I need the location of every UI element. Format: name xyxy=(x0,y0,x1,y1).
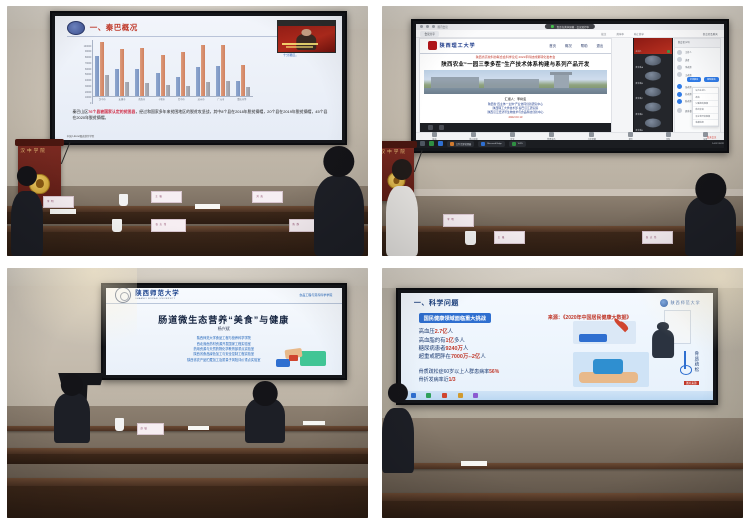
nameplate: 王 强 xyxy=(151,191,182,203)
stop-share-button[interactable]: 停止共享 xyxy=(634,32,644,36)
department-label: 食品工程与营养科学学院 xyxy=(299,293,332,297)
nameplate-text: 王 强 xyxy=(155,194,162,198)
screen-surface: 一、秦巴概况 010000200003000040000500006000070… xyxy=(55,16,341,140)
avatar xyxy=(677,108,682,113)
video-tile[interactable]: 参会者E xyxy=(634,116,672,132)
document-icon xyxy=(512,142,516,146)
affiliation-3: 陕西汉江经济带生物技术与食品科技创新中心 xyxy=(420,110,611,114)
chart-y-tick: 60000 xyxy=(85,69,91,71)
video-tile[interactable]: 参会者D xyxy=(634,101,672,118)
video-tile[interactable]: 参会者B xyxy=(634,70,672,87)
decoration-shape-green xyxy=(300,351,326,366)
paper-cup xyxy=(115,418,124,431)
slide-control-icon[interactable] xyxy=(439,125,444,130)
slide-subtitle: 陕西省高校科协联合会科学论坛 2021年科技成果转化发布会 xyxy=(420,55,611,59)
avatar xyxy=(677,92,682,97)
university-seal-icon xyxy=(115,288,131,303)
chart-bar-group xyxy=(196,40,210,96)
slide-campus-photo xyxy=(424,70,607,94)
nav-help[interactable]: 帮助 xyxy=(581,43,588,48)
slide-org-name: 陕西师范大学 xyxy=(671,300,701,306)
avatar xyxy=(645,119,661,128)
chart-bar xyxy=(186,86,190,96)
stat-value: 56% xyxy=(489,369,499,375)
video-tile[interactable]: 主讲人 xyxy=(634,38,672,55)
chat-icon xyxy=(628,132,633,137)
projection-screen: 腾讯会议 您正在共享屏幕 · 会议进行中 会议共享 批注 共享中 xyxy=(411,19,729,153)
avatar xyxy=(645,72,661,81)
roster-header: 参会者 (24) xyxy=(675,39,720,48)
chart-bar xyxy=(236,81,240,96)
chart-bar xyxy=(226,81,230,96)
chart-bar xyxy=(246,87,250,95)
chart-x-tick: 巴中市 xyxy=(178,97,185,101)
avatar xyxy=(677,84,682,89)
system-clock[interactable]: 14:32 2022/3/13 xyxy=(712,143,724,146)
stat-item: 超重或肥胖在7000万--2亿人 xyxy=(419,353,569,361)
nameplate: 张 志 伟 xyxy=(151,219,185,232)
chart-bar-group xyxy=(236,40,250,96)
nav-exit[interactable]: 退出 xyxy=(597,43,604,48)
nameplate-text: 陈 静 xyxy=(292,222,299,226)
photo-top-left: 一、秦巴概况 010000200003000040000500006000070… xyxy=(7,6,368,256)
chart-bar xyxy=(100,42,104,96)
end-meeting-button[interactable]: 结束会议 xyxy=(707,135,716,139)
chart-bar xyxy=(221,45,225,96)
participant-context-menu[interactable]: 设为主持人 改名 只看他的视频 移出会议 禁止他开启视频 私聊消息 xyxy=(692,87,719,127)
panel-bottom-right: 一、科学问题 陕西师范大学 国民健康领域面临重大挑战 来源：《2020年中国居民… xyxy=(375,262,750,524)
handout xyxy=(461,461,486,466)
attendee-head xyxy=(253,381,278,406)
org-name-cn: 陕西师范大学 xyxy=(135,291,179,298)
chart-bar xyxy=(176,77,180,96)
paper-cup xyxy=(112,219,122,233)
chart-x-tick: 重庆市等 xyxy=(237,97,246,101)
stat-prefix: 超重或肥胖在 xyxy=(419,354,451,360)
roster-title: 参会者及聊天 xyxy=(703,32,718,36)
stat-suffix: 人 xyxy=(480,354,485,360)
screen-surface: 一、科学问题 陕西师范大学 国民健康领域面临重大挑战 来源：《2020年中国居民… xyxy=(401,293,713,400)
roster-row[interactable]: 李老师 xyxy=(677,64,718,71)
nameplate-text: 张 志 伟 xyxy=(156,222,167,226)
sharing-status-text: 您正在共享屏幕 · 会议进行中 xyxy=(557,25,589,29)
chart-bar xyxy=(125,82,129,96)
tower-shape xyxy=(554,74,569,89)
chart-bar xyxy=(181,52,185,96)
building-shape xyxy=(484,79,539,88)
nameplate: 刘 海 xyxy=(252,191,283,203)
stat-value: 1亿 xyxy=(446,338,454,344)
device-shape xyxy=(593,359,623,374)
stat-value: 7000万--2亿 xyxy=(451,354,480,360)
video-tile-name: 主讲人 xyxy=(635,50,641,53)
chart-x-tick: 商洛市 xyxy=(138,97,145,101)
participant-roster[interactable]: 参会者 (24) 主持人 讲者 李老师 xyxy=(674,38,721,133)
chart-bar xyxy=(120,49,124,96)
window-controls-icon[interactable] xyxy=(420,25,435,28)
paper-cup xyxy=(119,194,128,207)
people-icon xyxy=(549,132,554,137)
chart-y-tick: 100000 xyxy=(84,46,92,48)
slide-poverty-overview: 一、秦巴概况 010000200003000040000500006000070… xyxy=(55,16,341,140)
avatar xyxy=(677,72,682,77)
nameplate-text: 李 明 xyxy=(47,199,54,203)
ribbon-icon xyxy=(458,393,463,398)
stethoscope-bell xyxy=(680,365,692,375)
chart-x-labels: 汉中市安康市商洛市十堰市巴中市达州市广元市重庆市等 xyxy=(92,97,253,104)
chart-bar xyxy=(201,45,205,96)
handout xyxy=(188,426,210,430)
taskbar-app-wps[interactable]: WPS xyxy=(509,141,526,147)
water-shape xyxy=(424,88,607,94)
chart-y-tick: 90000 xyxy=(85,51,91,53)
panel-top-left: 一、秦巴概况 010000200003000040000500006000070… xyxy=(0,0,375,262)
participant-name: 李老师 xyxy=(685,65,692,69)
projection-screen: 一、科学问题 陕西师范大学 国民健康领域面临重大挑战 来源：《2020年中国居民… xyxy=(396,288,718,405)
shared-slide: 陕西理工大学 首页 概况 帮助 退出 陕西省高校科协联合会科 xyxy=(420,39,611,132)
desk-face-2 xyxy=(382,501,743,519)
chart-plot-area xyxy=(92,40,253,97)
nameplate-text: 刘 海 xyxy=(256,194,263,198)
slide-meta: 汇报人：李树玺 陕西省“四主体一主体”产业协同创新研究中心 陕西理工大学技术部 … xyxy=(420,96,611,119)
stat-value: 2.7亿 xyxy=(435,329,448,335)
reporter-label: 汇报人： xyxy=(505,97,517,101)
attendee xyxy=(54,393,90,443)
desk-row-2 xyxy=(382,493,743,501)
chart-y-tick: 20000 xyxy=(85,92,91,94)
annotate-button[interactable]: 批注 xyxy=(601,32,606,36)
video-caption-1 xyxy=(282,43,318,45)
vertical-note: 骨质疏松 xyxy=(694,351,700,373)
attendee xyxy=(245,398,285,443)
share-screen-icon xyxy=(589,132,594,137)
taskbar-app-label: WPS xyxy=(518,143,523,145)
video-tile-name: 参会者B xyxy=(635,82,643,85)
university-seal-icon xyxy=(660,299,668,307)
stat-suffix: 多人 xyxy=(454,338,465,344)
podium-top xyxy=(15,139,64,146)
ribbon-icon xyxy=(442,393,447,398)
nav-home[interactable]: 首页 xyxy=(549,43,556,48)
photo-bottom-left: 陕西师范大学 SHAANXI NORMAL UNIVERSITY 食品工程与营养… xyxy=(7,268,368,518)
slide-nav: 首页 概况 帮助 退出 xyxy=(549,43,603,48)
chart-bar xyxy=(156,73,160,96)
stat-value: 9240万 xyxy=(446,346,463,352)
slide-org-name: 陕西理工大学 xyxy=(440,42,476,49)
blood-pressure-cuff-icon xyxy=(579,334,607,342)
stat-prefix: 高血脂的有 xyxy=(419,338,446,344)
screen-surface: 陕西师范大学 SHAANXI NORMAL UNIVERSITY 食品工程与营养… xyxy=(106,288,342,375)
slide-logo: 陕西理工大学 xyxy=(428,41,476,50)
video-tile[interactable]: 参会者C xyxy=(634,85,672,102)
avatar xyxy=(645,56,661,65)
sharing-dot-icon xyxy=(551,25,554,28)
university-mark-icon xyxy=(428,41,437,50)
slide-title: 肠道微生态营养“美食”与健康 xyxy=(106,313,342,326)
slide-bottom-bar xyxy=(420,123,611,131)
slide-logo: 陕西师范大学 xyxy=(660,299,701,307)
stat-prefix: 骨折发病率近 xyxy=(419,377,449,383)
chart-x-tick: 汉中市 xyxy=(99,97,106,101)
nameplate-text: 张 志 伟 xyxy=(646,235,657,239)
slide-logo: 陕西师范大学 SHAANXI NORMAL UNIVERSITY xyxy=(115,288,179,303)
slide-heading: 一、科学问题 xyxy=(414,298,459,308)
screen-surface: 腾讯会议 您正在共享屏幕 · 会议进行中 会议共享 批注 共享中 xyxy=(416,24,724,148)
menu-item-private-chat[interactable]: 私聊消息 xyxy=(693,120,718,126)
projection-screen: 陕西师范大学 SHAANXI NORMAL UNIVERSITY 食品工程与营养… xyxy=(101,283,347,380)
reporter-line: 汇报人：李树玺 xyxy=(420,96,611,101)
chart-bar xyxy=(166,85,170,96)
video-tile-name: 参会者A xyxy=(635,66,643,69)
video-titlebar xyxy=(278,21,335,26)
attendee xyxy=(386,186,418,256)
roster-row[interactable]: 讲者 xyxy=(677,56,718,63)
nameplate: 李 明 xyxy=(443,214,474,227)
stat-prefix: 糖尿病患者 xyxy=(419,346,446,352)
slide-footer-text: 秦巴山区76个县被国家认定的贫困县，经过和国家多年来贫困地区的脱贫攻坚战，其中8… xyxy=(72,109,327,121)
decoration-shape-blue xyxy=(276,359,290,367)
stat-item: 糖尿病患者9240万人 xyxy=(419,345,569,353)
unmute-all-button[interactable]: 解除静音 xyxy=(704,77,718,82)
podium-text: 汉中学院 xyxy=(382,149,412,155)
chart-y-tick: 70000 xyxy=(85,63,91,65)
slide-badge: 国民健康领域面临重大挑战 xyxy=(419,313,491,323)
handout xyxy=(303,421,325,425)
nameplate-text: 赵 敏 xyxy=(140,426,147,430)
nameplate-text: 王 强 xyxy=(498,235,505,239)
video-tile-name: 参会者C xyxy=(635,97,643,100)
slide-illustrations: 骨质疏松 图片来源 xyxy=(573,321,704,387)
attendee xyxy=(314,176,365,256)
chart-bar-group xyxy=(135,40,149,96)
participant-video-strip[interactable]: 主讲人 参会者A 参会者B xyxy=(633,38,673,133)
ribbon-icon xyxy=(473,393,478,398)
source-label: 来源： xyxy=(548,315,563,321)
chart-bar xyxy=(145,83,149,96)
attendee xyxy=(382,408,414,473)
chart-bar-group xyxy=(115,40,129,96)
avatar xyxy=(645,103,661,112)
stat-list-primary: 高血压2.7亿人 高血脂的有1亿多人 糖尿病患者9240万人 超重或肥胖在700… xyxy=(419,328,569,362)
avatar xyxy=(645,87,661,96)
search-icon[interactable] xyxy=(429,141,434,146)
browser-icon xyxy=(481,142,485,146)
illustration-person-silhouette xyxy=(649,322,678,358)
handout xyxy=(195,204,220,209)
slide-credit: 中国人Excel图表制作学院 xyxy=(67,134,94,138)
chart-bar-group xyxy=(176,40,190,96)
desk-face-2 xyxy=(7,454,368,464)
photo-top-right: 腾讯会议 您正在共享屏幕 · 会议进行中 会议共享 批注 共享中 xyxy=(382,6,743,256)
podium-text: 汉中学院 xyxy=(20,148,58,154)
os-taskbar: 文件资源管理器 Microsoft Edge WPS 14:32 2022/3/… xyxy=(416,140,724,147)
stat-item: 高血压2.7亿人 xyxy=(419,328,569,336)
chart-y-tick: 30000 xyxy=(85,86,91,88)
slide-control-icon[interactable] xyxy=(428,125,433,130)
desk-row-3 xyxy=(7,478,368,486)
slide-title-nutrition: 陕西师范大学 SHAANXI NORMAL UNIVERSITY 食品工程与营养… xyxy=(106,288,342,375)
chart-bar xyxy=(135,69,139,96)
folder-icon xyxy=(450,142,454,146)
nav-overview[interactable]: 概况 xyxy=(565,43,572,48)
paper-cup xyxy=(465,231,476,245)
chart-bar xyxy=(115,69,119,96)
sharing-indicator[interactable]: 共享中 xyxy=(616,32,624,36)
slide-health-statistics: 一、科学问题 陕西师范大学 国民健康领域面临重大挑战 来源：《2020年中国居民… xyxy=(401,293,713,400)
chart-x-tick: 广元市 xyxy=(217,97,224,101)
chart-bar xyxy=(206,82,210,96)
desk-row-1 xyxy=(382,463,743,469)
tab-meeting-share[interactable]: 会议共享 xyxy=(420,31,438,37)
roster-count: 参会者 (24) xyxy=(678,40,690,44)
stat-suffix: 人 xyxy=(448,329,453,335)
org-name-en: SHAANXI NORMAL UNIVERSITY xyxy=(135,298,179,300)
taskbar-app-label: 文件资源管理器 xyxy=(456,142,471,146)
chart-bar xyxy=(196,67,200,96)
attendee xyxy=(11,191,43,256)
handout xyxy=(50,209,75,214)
footer-pre: 秦巴山区 xyxy=(72,109,88,114)
stat-item: 高血脂的有1亿多人 xyxy=(419,337,569,345)
avatar xyxy=(677,65,682,70)
video-tile[interactable]: 参会者A xyxy=(634,54,672,71)
podium-top xyxy=(382,141,417,148)
shield-icon xyxy=(510,132,515,137)
stat-value: 1/3 xyxy=(449,377,456,383)
shared-content-stage: 陕西理工大学 首页 概况 帮助 退出 陕西省高校科协联合会科 xyxy=(419,38,612,133)
avatar xyxy=(677,57,682,62)
chart-bar xyxy=(241,65,245,96)
projection-screen: 一、秦巴概况 010000200003000040000500006000070… xyxy=(50,11,346,145)
chart-y-tick: 10000 xyxy=(85,97,91,99)
desk-face-3 xyxy=(7,486,368,519)
chart-bar xyxy=(161,55,165,96)
chart-y-tick: 40000 xyxy=(85,80,91,82)
meeting-app: 腾讯会议 您正在共享屏幕 · 会议进行中 会议共享 批注 共享中 xyxy=(416,24,724,148)
chart-x-tick: 十堰市 xyxy=(158,97,165,101)
slide-header: 陕西师范大学 SHAANXI NORMAL UNIVERSITY 食品工程与营养… xyxy=(106,288,342,304)
taskbar-app-explorer[interactable]: 文件资源管理器 xyxy=(447,141,474,147)
taskbar-app-label: Microsoft Edge xyxy=(487,143,502,145)
attendee-head xyxy=(695,173,726,204)
chart-bar xyxy=(95,56,99,95)
university-emblem-icon xyxy=(67,21,85,35)
participant-name: 主持人 xyxy=(685,50,692,54)
chart-bar-group xyxy=(156,40,170,96)
person-body xyxy=(652,330,674,358)
speaker-head xyxy=(302,29,311,36)
slide-title: 陕西农业“一园三季多茬”生产技术体系构建与系列产品开发 xyxy=(420,60,611,68)
chart-bar-group xyxy=(216,40,230,96)
video-tile-name: 参会者D xyxy=(635,113,643,116)
attendee-head xyxy=(61,374,83,396)
mic-icon xyxy=(667,50,670,53)
start-icon[interactable] xyxy=(420,141,425,146)
app-window-label: 腾讯会议 xyxy=(437,25,447,29)
chart-bar xyxy=(140,48,144,96)
chart-x-tick: 安康市 xyxy=(119,97,126,101)
photo-bottom-right: 一、科学问题 陕西师范大学 国民健康领域面临重大挑战 来源：《2020年中国居民… xyxy=(382,268,743,518)
microphone-icon xyxy=(432,132,437,137)
chart-y-tick: 50000 xyxy=(85,74,91,76)
chart-y-axis: 0100002000030000400005000060000700008000… xyxy=(72,40,93,104)
slide-date: 2022.03.13 xyxy=(420,115,611,119)
video-caption-2 xyxy=(286,46,313,48)
avatar xyxy=(677,99,682,104)
stat-prefix: 骨质疏松症60岁以上人群患病率 xyxy=(419,369,490,375)
panel-bottom-left: 陕西师范大学 SHAANXI NORMAL UNIVERSITY 食品工程与营养… xyxy=(0,262,375,524)
illustration-bp-monitor xyxy=(573,321,636,345)
decoration-shape-red xyxy=(289,355,298,360)
stat-suffix: 人 xyxy=(463,346,468,352)
slide-footer-ribbon xyxy=(401,391,713,400)
slide-header: 陕西理工大学 首页 概况 帮助 退出 xyxy=(420,39,611,54)
building-shape xyxy=(431,77,479,88)
chart-bar xyxy=(105,75,109,96)
roster-bulk-actions: 全体静音 解除静音 xyxy=(687,77,719,82)
sharing-status-pill[interactable]: 您正在共享屏幕 · 会议进行中 xyxy=(545,24,595,28)
taskbar-app-edge[interactable]: Microsoft Edge xyxy=(478,141,505,147)
footer-highlight: 76个县被国家认定的贫困县 xyxy=(88,109,135,114)
nameplate: 赵 敏 xyxy=(137,423,164,435)
heart-icon xyxy=(617,322,628,333)
meeting-control-bar: 静音 停止视频 安全 管理成员 共享屏幕 聊天 xyxy=(416,132,724,140)
attendee xyxy=(685,196,736,256)
participant-name: 讲者 xyxy=(685,58,689,62)
nameplate: 李 明 xyxy=(43,196,74,208)
chart-bar xyxy=(216,66,220,96)
roster-row[interactable]: 主持人 xyxy=(677,49,718,56)
record-icon xyxy=(666,132,671,137)
bar-chart: 0100002000030000400005000060000700008000… xyxy=(72,40,252,104)
mute-all-button[interactable]: 全体静音 xyxy=(687,77,701,82)
image-credit-tag: 图片来源 xyxy=(684,381,698,385)
ribbon-icon xyxy=(426,393,431,398)
chart-y-tick: 0 xyxy=(90,103,91,105)
nameplate: 张 志 伟 xyxy=(642,231,673,244)
chart-x-tick: 达州市 xyxy=(198,97,205,101)
stat-prefix: 高血压 xyxy=(419,329,435,335)
slide-speaker: 杨兴斌 xyxy=(106,326,342,332)
panel-top-right: 腾讯会议 您正在共享屏幕 · 会议进行中 会议共享 批注 共享中 xyxy=(375,0,750,262)
org-name-block: 陕西师范大学 SHAANXI NORMAL UNIVERSITY xyxy=(135,291,179,300)
avatar xyxy=(677,50,682,55)
ribbon-icon xyxy=(411,393,416,398)
slide-title: 一、秦巴概况 xyxy=(90,22,138,33)
chart-y-tick: 80000 xyxy=(85,57,91,59)
illustration-measurement xyxy=(573,352,649,386)
photo-collage: 一、秦巴概况 010000200003000040000500006000070… xyxy=(0,0,750,524)
nameplate-text: 李 明 xyxy=(447,217,454,221)
camera-icon xyxy=(471,132,476,137)
video-thumbnail[interactable] xyxy=(277,20,336,53)
nameplate: 王 强 xyxy=(494,231,525,244)
reporter-name: 李树玺 xyxy=(517,97,526,101)
toolbar-actions: 批注 共享中 停止共享 xyxy=(601,32,644,36)
chart-bar-group xyxy=(95,40,109,96)
taskview-icon[interactable] xyxy=(438,141,443,146)
